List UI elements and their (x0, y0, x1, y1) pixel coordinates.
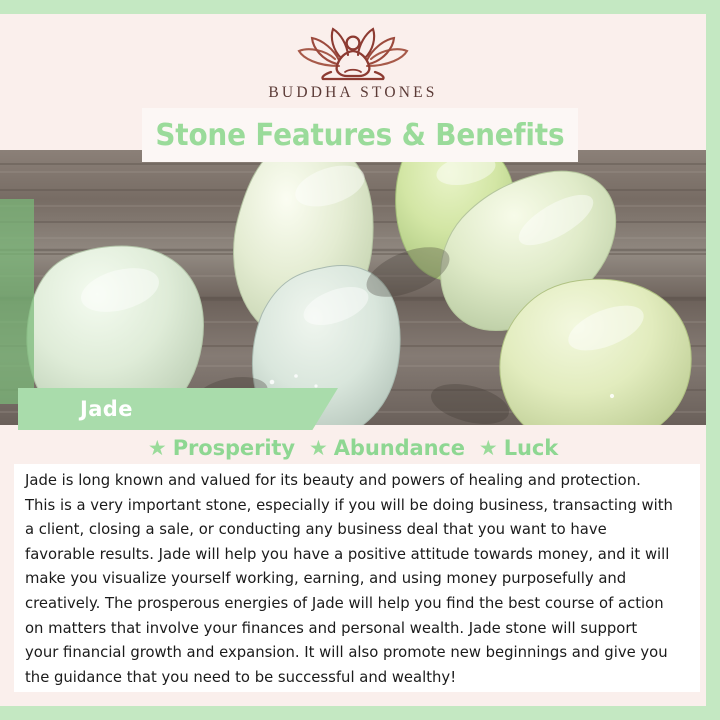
stone-photo-illustration (0, 150, 706, 425)
brand-logo-block: BUDDHA STONES (0, 14, 706, 108)
benefits-row: ★ Prosperity ★ Abundance ★ Luck (0, 430, 706, 466)
star-icon: ★ (309, 438, 328, 459)
lotus-meditation-icon (287, 22, 419, 82)
page-title: Stone Features & Benefits (156, 118, 565, 153)
star-icon: ★ (148, 438, 167, 459)
description-text: Jade is long known and valued for its be… (25, 468, 673, 689)
stone-name-band: Jade (18, 388, 338, 430)
benefit-item-prosperity: ★ Prosperity (148, 436, 295, 460)
benefit-item-abundance: ★ Abundance (309, 436, 465, 460)
brand-name: BUDDHA STONES (268, 84, 437, 102)
page-inner: BUDDHA STONES (0, 14, 706, 706)
star-icon: ★ (479, 438, 498, 459)
stone-photo (0, 150, 706, 425)
benefit-label: Prosperity (173, 436, 295, 460)
poster-root: BUDDHA STONES (0, 0, 720, 720)
benefit-label: Abundance (334, 436, 465, 460)
benefit-label: Luck (504, 436, 558, 460)
stone-name-label: Jade (80, 397, 133, 421)
title-banner: Stone Features & Benefits (142, 108, 578, 162)
benefit-item-luck: ★ Luck (479, 436, 558, 460)
description-panel: Jade is long known and valued for its be… (14, 464, 700, 692)
photo-left-accent-band (0, 199, 34, 404)
